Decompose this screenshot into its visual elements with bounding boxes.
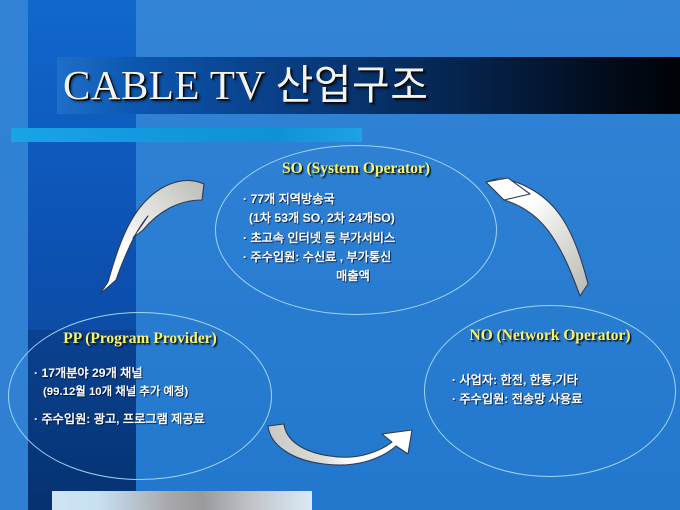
so-title: SO (System Operator) xyxy=(215,160,497,178)
no-title: NO (Network Operator) xyxy=(424,327,676,345)
no-line-1: · 사업자: 한전, 한통,기타 xyxy=(452,373,578,387)
pp-line-3: · 주수입원: 광고, 프로그램 제공료 xyxy=(34,412,205,426)
no-body: · 사업자: 한전, 한통,기타 · 주수입원: 전송망 사용료 xyxy=(424,371,676,410)
slide-canvas: CABLE TV 산업구조 SO (System Operator) · 77개… xyxy=(0,0,680,510)
so-body: · 77개 지역방송국 (1차 53개 SO, 2차 24개SO) · 초고속 … xyxy=(215,190,497,286)
so-line-3: · 초고속 인터넷 등 부가서비스 xyxy=(243,231,395,245)
page-title: CABLE TV 산업구조 xyxy=(57,58,680,114)
so-line-2: (1차 53개 SO, 2차 24개SO) xyxy=(243,209,497,228)
bottom-accent-bar xyxy=(52,491,312,510)
curved-arrow-right-icon xyxy=(484,174,610,310)
pp-line-1: · 17개분야 29개 채널 xyxy=(34,366,143,380)
node-so: SO (System Operator) · 77개 지역방송국 (1차 53개… xyxy=(215,160,497,286)
so-line-1: · 77개 지역방송국 xyxy=(243,192,335,206)
curved-arrow-bottom-icon xyxy=(262,420,422,476)
curved-arrow-left-icon xyxy=(86,172,206,304)
pp-title: PP (Program Provider) xyxy=(8,330,272,348)
accent-bar xyxy=(11,128,362,142)
no-line-2: · 주수입원: 전송망 사용료 xyxy=(452,392,582,406)
so-line-5: 매출액 xyxy=(243,267,497,286)
node-no: NO (Network Operator) · 사업자: 한전, 한통,기타 ·… xyxy=(424,327,676,410)
pp-body: · 17개분야 29개 채널 (99.12월 10개 채널 추가 예정) · 주… xyxy=(8,364,272,430)
pp-spacer xyxy=(34,401,272,410)
pp-line-2: (99.12월 10개 채널 추가 예정) xyxy=(34,383,272,401)
node-pp: PP (Program Provider) · 17개분야 29개 채널 (99… xyxy=(8,330,272,430)
so-line-4: · 주수입원: 수신료 , 부가통신 xyxy=(243,250,391,264)
